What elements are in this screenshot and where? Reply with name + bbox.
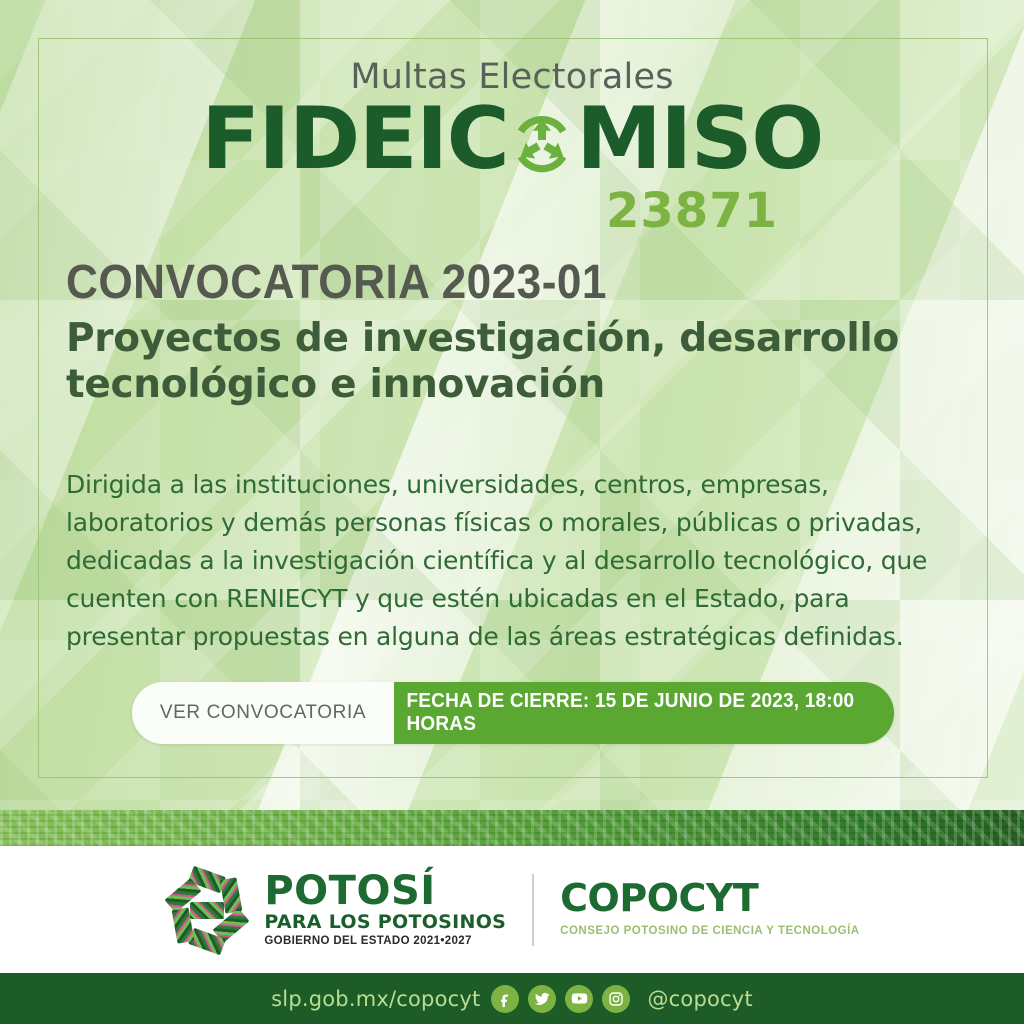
youtube-icon[interactable]	[565, 985, 593, 1013]
potosi-name: POTOSÍ	[264, 871, 506, 911]
fideicomiso-logo: Multas Electorales FIDEIC	[0, 60, 1024, 239]
potosi-wordmark: POTOSÍ PARA LOS POTOSINOS GOBIERNO DEL E…	[264, 871, 506, 948]
decorative-pattern-band	[0, 810, 1024, 846]
wordmark-part-1: FIDEIC	[201, 99, 508, 181]
poster: Multas Electorales FIDEIC	[0, 0, 1024, 1024]
convocatoria-subtitle: Proyectos de investigación, desarrollo t…	[66, 316, 946, 408]
potosi-logo: POTOSÍ PARA LOS POTOSINOS GOBIERNO DEL E…	[164, 867, 506, 953]
recycle-icon	[509, 111, 575, 177]
logo-divider	[532, 874, 534, 946]
hero-content: Multas Electorales FIDEIC	[0, 0, 1024, 810]
potosi-tagline: PARA LOS POTOSINOS	[264, 913, 506, 932]
wordmark-part-2: MISO	[576, 99, 823, 181]
ver-convocatoria-button[interactable]: VER CONVOCATORIA	[132, 682, 394, 744]
footer-logos: POTOSÍ PARA LOS POTOSINOS GOBIERNO DEL E…	[0, 846, 1024, 973]
social-icons	[491, 985, 630, 1013]
convocatoria-title: CONVOCATORIA 2023-01	[66, 258, 876, 308]
copocyt-name: COPOCYT	[560, 879, 859, 917]
instagram-icon[interactable]	[602, 985, 630, 1013]
headline-block: CONVOCATORIA 2023-01 Proyectos de invest…	[66, 258, 946, 408]
twitter-icon[interactable]	[528, 985, 556, 1013]
copocyt-subtitle: CONSEJO POTOSINO DE CIENCIA Y TECNOLOGÍA	[560, 924, 859, 940]
facebook-icon[interactable]	[491, 985, 519, 1013]
social-handle[interactable]: @copocyt	[647, 987, 752, 1011]
logo-kicker: Multas Electorales	[0, 60, 1024, 95]
deadline-text: FECHA DE CIERRE: 15 DE JUNIO DE 2023, 18…	[407, 690, 882, 736]
fideicomiso-number: 23871	[0, 183, 778, 239]
website-url[interactable]: slp.gob.mx/copocyt	[271, 987, 480, 1011]
logo-wordmark: FIDEIC	[0, 99, 1024, 181]
potosi-government: GOBIERNO DEL ESTADO 2021•2027	[264, 936, 506, 948]
copocyt-logo: COPOCYT CONSEJO POTOSINO DE CIENCIA Y TE…	[560, 879, 859, 940]
bottom-bar: slp.gob.mx/copocyt	[0, 973, 1024, 1024]
cta-pill: VER CONVOCATORIA FECHA DE CIERRE: 15 DE …	[132, 682, 894, 744]
deadline-banner: FECHA DE CIERRE: 15 DE JUNIO DE 2023, 18…	[394, 682, 894, 744]
body-paragraph: Dirigida a las instituciones, universida…	[66, 466, 946, 656]
textile-pinwheel-icon	[164, 867, 250, 953]
